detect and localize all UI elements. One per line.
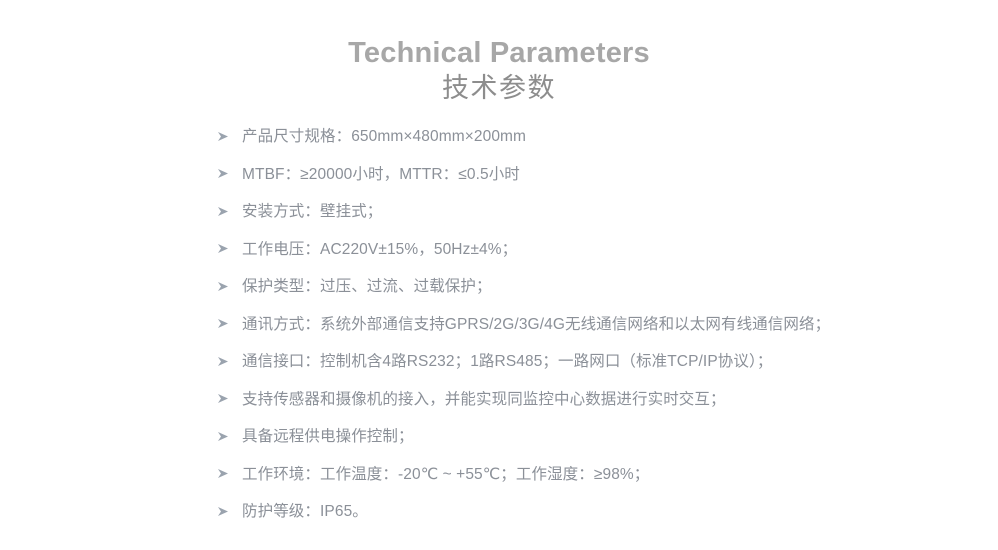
list-item-label: 工作环境：工作温度：-20℃ ~ +55℃；工作湿度：≥98%； <box>242 456 988 494</box>
page-title-english: Technical Parameters <box>0 36 998 70</box>
specification-list: 产品尺寸规格：650mm×480mm×200mm MTBF：≥20000小时，M… <box>214 118 988 531</box>
list-item-label: 安装方式：壁挂式； <box>242 193 988 231</box>
list-item-label: 通讯方式：系统外部通信支持GPRS/2G/3G/4G无线通信网络和以太网有线通信… <box>242 306 988 344</box>
list-item-label: 产品尺寸规格：650mm×480mm×200mm <box>242 118 988 156</box>
arrowhead-bullet-icon <box>214 118 242 156</box>
list-item: 防护等级：IP65。 <box>214 493 988 531</box>
arrowhead-bullet-icon <box>214 343 242 381</box>
list-item-label: 保护类型：过压、过流、过载保护； <box>242 268 988 306</box>
list-item-label: 支持传感器和摄像机的接入，并能实现同监控中心数据进行实时交互； <box>242 381 988 419</box>
arrowhead-bullet-icon <box>214 493 242 531</box>
arrowhead-bullet-icon <box>214 268 242 306</box>
list-item: 支持传感器和摄像机的接入，并能实现同监控中心数据进行实时交互； <box>214 381 988 419</box>
arrowhead-bullet-icon <box>214 456 242 494</box>
arrowhead-bullet-icon <box>214 381 242 419</box>
arrowhead-bullet-icon <box>214 306 242 344</box>
page-heading: Technical Parameters 技术参数 <box>0 0 998 105</box>
arrowhead-bullet-icon <box>214 156 242 194</box>
list-item-label: 具备远程供电操作控制； <box>242 418 988 456</box>
list-item: 产品尺寸规格：650mm×480mm×200mm <box>214 118 988 156</box>
page-title-chinese: 技术参数 <box>0 72 998 105</box>
list-item: 安装方式：壁挂式； <box>214 193 988 231</box>
list-item: 工作电压：AC220V±15%，50Hz±4%； <box>214 231 988 269</box>
list-item: 通信接口：控制机含4路RS232；1路RS485；一路网口（标准TCP/IP协议… <box>214 343 988 381</box>
arrowhead-bullet-icon <box>214 231 242 269</box>
arrowhead-bullet-icon <box>214 193 242 231</box>
arrowhead-bullet-icon <box>214 418 242 456</box>
list-item: 保护类型：过压、过流、过载保护； <box>214 268 988 306</box>
list-item-label: 工作电压：AC220V±15%，50Hz±4%； <box>242 231 988 269</box>
list-item-label: MTBF：≥20000小时，MTTR：≤0.5小时 <box>242 156 988 194</box>
list-item-label: 通信接口：控制机含4路RS232；1路RS485；一路网口（标准TCP/IP协议… <box>242 343 988 381</box>
list-item: 具备远程供电操作控制； <box>214 418 988 456</box>
list-item: MTBF：≥20000小时，MTTR：≤0.5小时 <box>214 156 988 194</box>
technical-parameters-page: Technical Parameters 技术参数 产品尺寸规格：650mm×4… <box>0 0 998 550</box>
list-item: 工作环境：工作温度：-20℃ ~ +55℃；工作湿度：≥98%； <box>214 456 988 494</box>
list-item: 通讯方式：系统外部通信支持GPRS/2G/3G/4G无线通信网络和以太网有线通信… <box>214 306 988 344</box>
list-item-label: 防护等级：IP65。 <box>242 493 988 531</box>
